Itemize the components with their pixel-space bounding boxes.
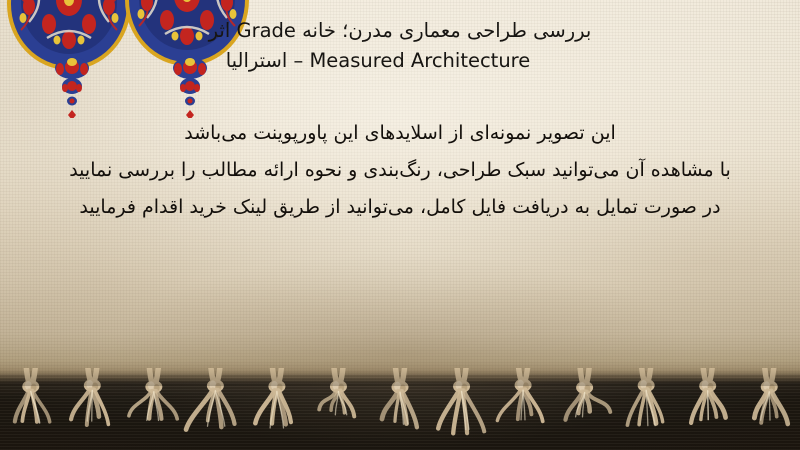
title-line-1: بررسی طراحی معماری مدرن؛ خانه Grade اثر <box>0 16 800 46</box>
background-weave-texture-dark <box>0 374 800 450</box>
slide-canvas: بررسی طراحی معماری مدرن؛ خانه Grade اثر … <box>0 0 800 450</box>
body-line-3: در صورت تمایل به دریافت فایل کامل، می‌تو… <box>0 189 800 226</box>
body-line-2: با مشاهده آن می‌توانید سبک طراحی، رنگ‌بن… <box>0 152 800 189</box>
slide-title: بررسی طراحی معماری مدرن؛ خانه Grade اثر … <box>0 16 800 76</box>
body-line-1: این تصویر نمونه‌ای از اسلایدهای این پاور… <box>0 115 800 152</box>
slide-body: این تصویر نمونه‌ای از اسلایدهای این پاور… <box>0 115 800 226</box>
title-line-2: Measured Architecture – استرالیا <box>0 46 800 76</box>
